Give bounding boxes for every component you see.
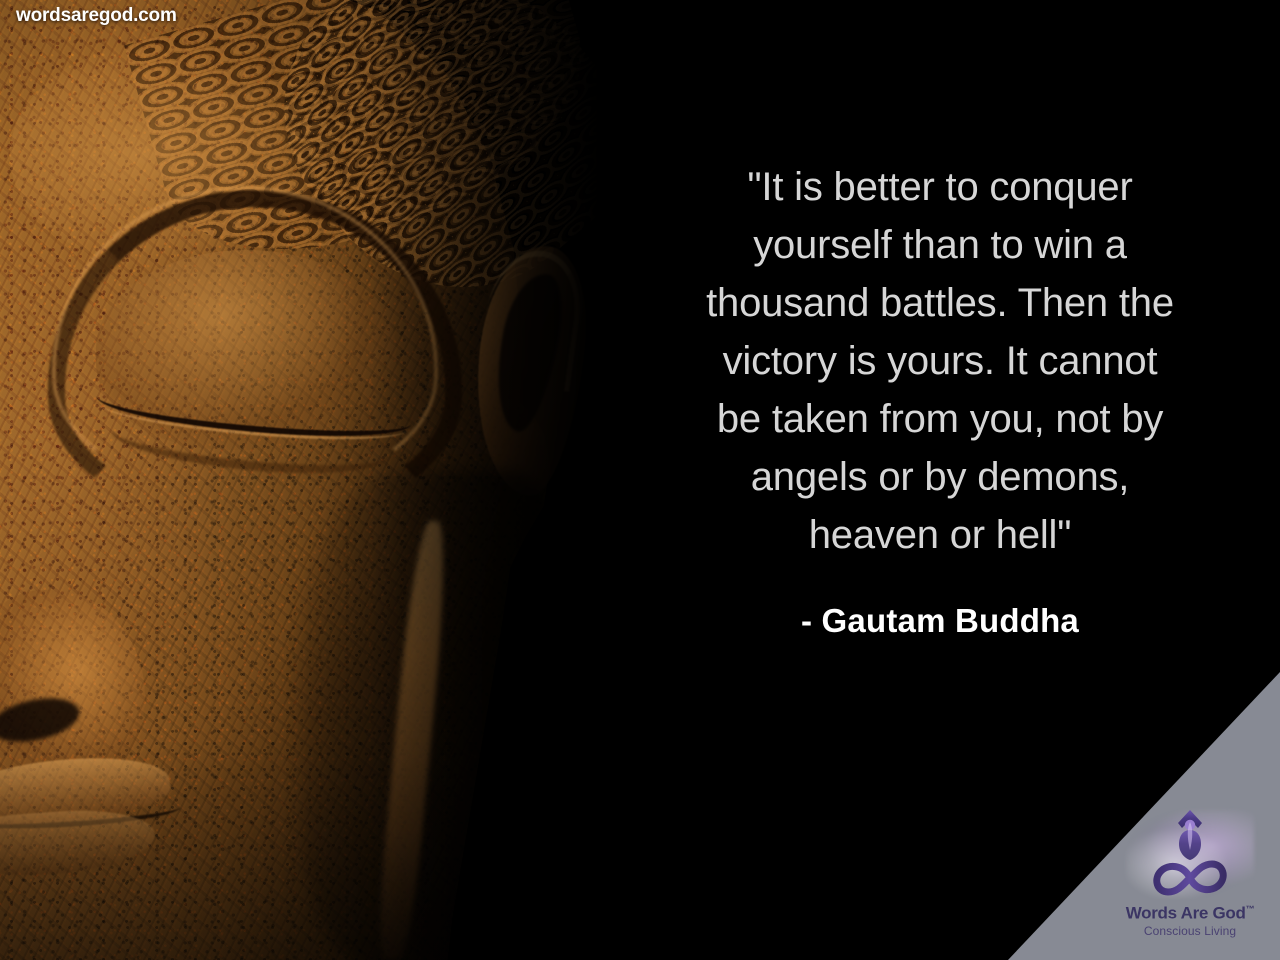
site-watermark: wordsaregod.com: [16, 5, 177, 27]
quote-text: "It is better to conquer yourself than t…: [630, 158, 1250, 564]
quote-author: - Gautam Buddha: [630, 602, 1250, 640]
quote-image-canvas: wordsaregod.com "It is better to conquer…: [0, 0, 1280, 960]
photo-right-fade: [0, 0, 600, 960]
quote-block: "It is better to conquer yourself than t…: [600, 0, 1280, 960]
buddha-statue-photo: [0, 0, 600, 960]
